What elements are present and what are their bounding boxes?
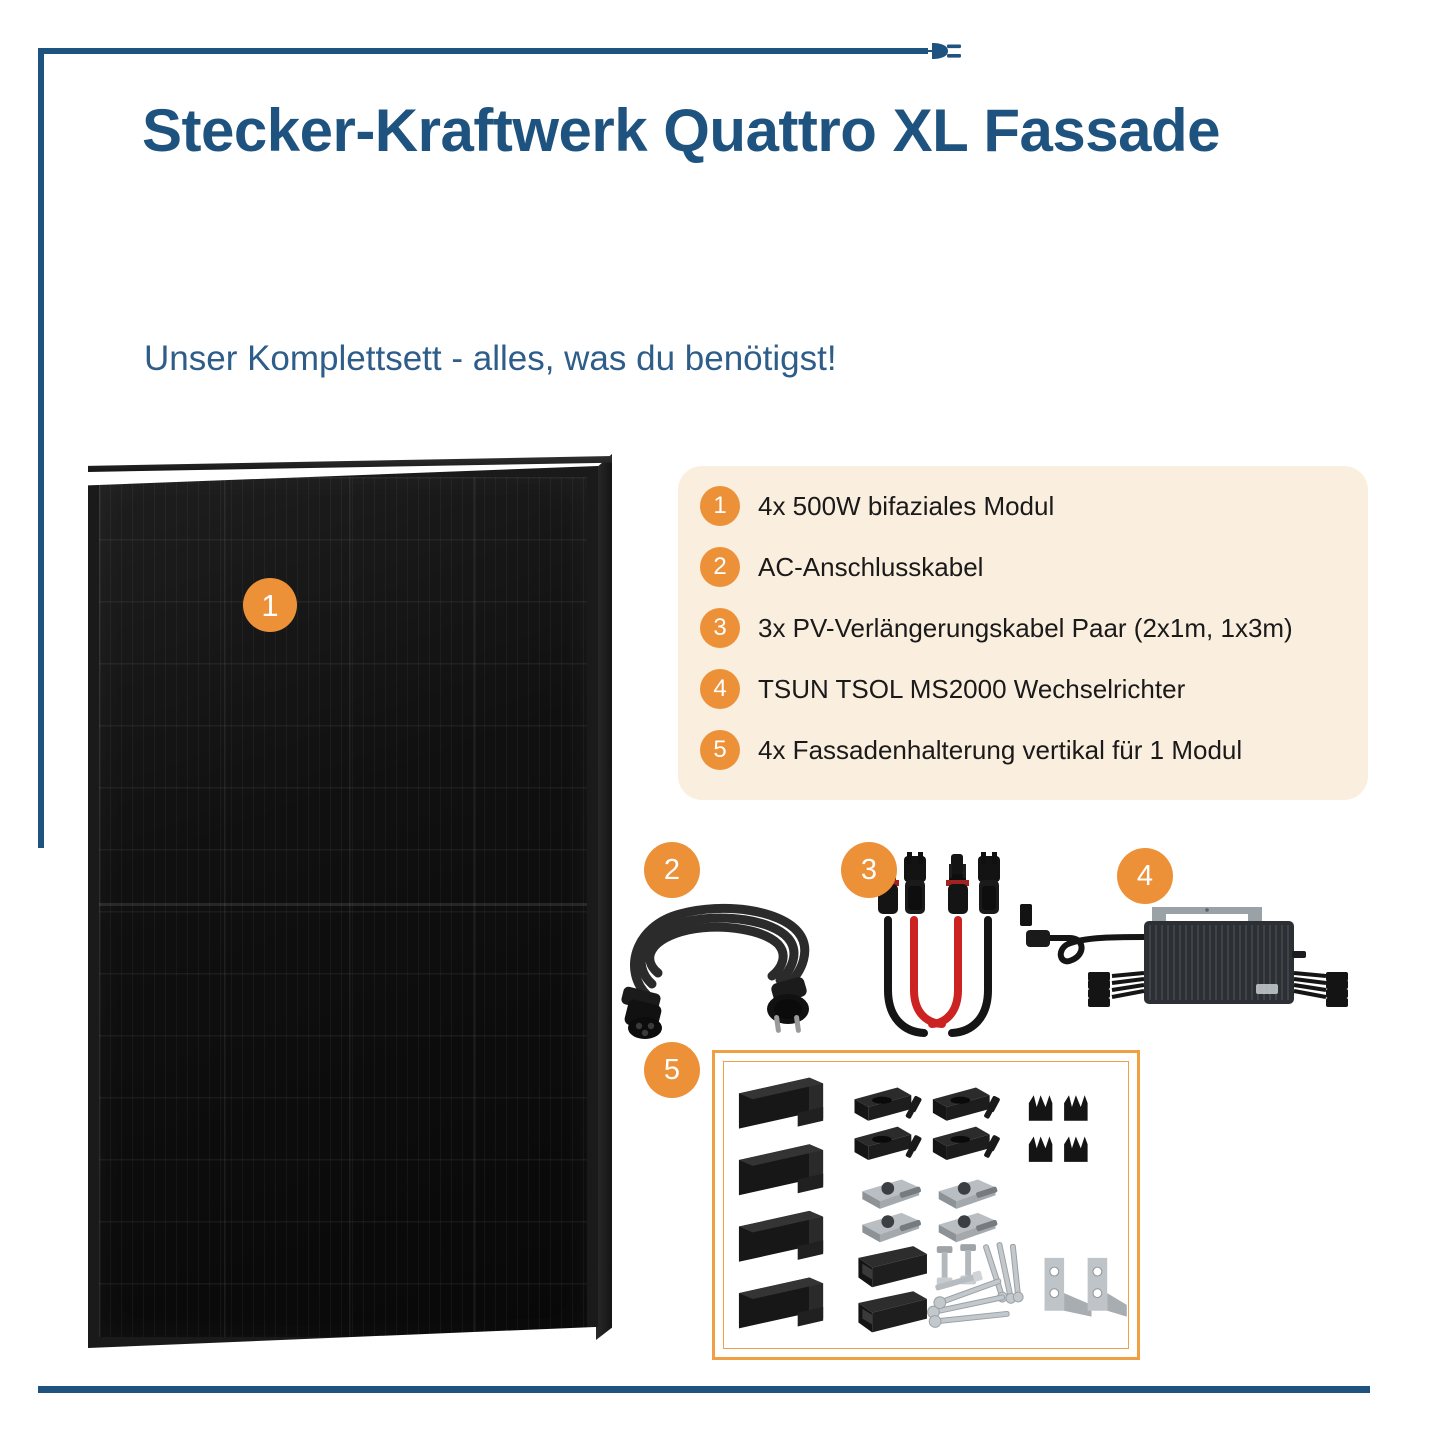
bottom-rule [38,1386,1370,1393]
ac-connector-schuko [767,976,809,1033]
feature-badge-3: 3 [700,608,740,648]
feature-item-2: 2 AC-Anschlusskabel [700,547,983,587]
feature-label-5: 4x Fassadenhalterung vertikal für 1 Modu… [758,735,1242,766]
feature-label-4: TSUN TSOL MS2000 Wechselrichter [758,674,1185,705]
mount-plate-set [855,1087,990,1159]
ac-cable-image [612,880,832,1040]
feature-badge-5: 5 [700,730,740,770]
ac-connector-female [620,986,662,1039]
solar-panel-image [72,448,632,1368]
feature-item-3: 3 3x PV-Verlängerungskabel Paar (2x1m, 1… [700,608,1293,648]
feature-item-1: 1 4x 500W bifaziales Modul [700,486,1054,526]
mount-metal-clamp-set [862,1180,998,1243]
mounting-kit-parts [724,1062,1128,1348]
callout-badge-4: 4 [1117,848,1173,904]
feature-label-1: 4x 500W bifaziales Modul [758,491,1054,522]
callout-badge-3: 3 [841,842,897,898]
mount-rail-set [739,1078,823,1329]
callout-badge-2: 2 [644,842,700,898]
page-title: Stecker-Kraftwerk Quattro XL Fassade [142,96,1272,167]
feature-list-card: 1 4x 500W bifaziales Modul 2 AC-Anschlus… [678,466,1368,800]
mount-angle-bracket-set [1045,1258,1127,1317]
plug-icon [916,30,964,72]
mount-short-profile-set [858,1246,927,1332]
feature-badge-4: 4 [700,669,740,709]
callout-badge-1: 1 [243,578,297,632]
mc4-male-b [946,854,969,914]
panel-face [88,466,598,1348]
feature-item-5: 5 4x Fassadenhalterung vertikal für 1 Mo… [700,730,1242,770]
feature-badge-1: 1 [700,486,740,526]
feature-item-4: 4 TSUN TSOL MS2000 Wechselrichter [700,669,1185,709]
mc4-female-b [978,852,1000,914]
mounting-kit-image [712,1050,1140,1360]
mount-cable-clip-set [1029,1095,1088,1162]
mc4-female-a [904,852,926,914]
inverter-image [1026,880,1376,1030]
feature-label-2: AC-Anschlusskabel [758,552,983,583]
feature-label-3: 3x PV-Verlängerungskabel Paar (2x1m, 1x3… [758,613,1293,644]
panel-side-edge [596,454,612,1340]
panel-cell-grid [99,477,587,1337]
panel-midline [99,903,587,906]
feature-badge-2: 2 [700,547,740,587]
page-subtitle: Unser Komplettsett - alles, was du benöt… [144,338,1274,380]
inverter-ac-connector [1026,930,1050,947]
callout-badge-5: 5 [644,1042,700,1098]
mount-bolt-set [934,1244,983,1293]
